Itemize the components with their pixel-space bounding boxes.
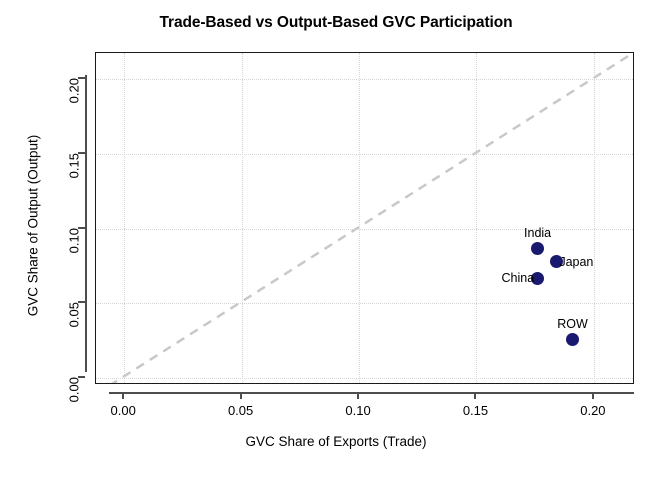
point-label-row: ROW bbox=[557, 318, 588, 331]
y-tick-label-4: 0.20 bbox=[67, 78, 82, 103]
gridline-vertical-0 bbox=[124, 53, 125, 383]
y-axis-label: GVC Share of Output (Output) bbox=[26, 60, 41, 392]
x-tick-4 bbox=[592, 392, 594, 399]
chart-figure: Trade-Based vs Output-Based GVC Particip… bbox=[0, 0, 672, 480]
x-tick-label-2: 0.10 bbox=[345, 403, 370, 418]
gridline-vertical-3 bbox=[476, 53, 477, 383]
x-tick-label-3: 0.15 bbox=[463, 403, 488, 418]
chart-title: Trade-Based vs Output-Based GVC Particip… bbox=[0, 14, 672, 32]
plot-area: IndiaJapanChinaROW bbox=[95, 52, 634, 384]
point-label-india: India bbox=[524, 227, 551, 240]
x-axis-line bbox=[109, 392, 634, 394]
point-label-japan: Japan bbox=[559, 256, 593, 269]
y-tick-label-3: 0.15 bbox=[67, 153, 82, 178]
x-tick-3 bbox=[474, 392, 476, 399]
x-tick-2 bbox=[357, 392, 359, 399]
gridline-vertical-1 bbox=[242, 53, 243, 383]
identity-reference-line bbox=[96, 53, 633, 383]
data-point-row[interactable] bbox=[566, 333, 579, 346]
gridline-horizontal-3 bbox=[96, 154, 633, 155]
gridline-horizontal-4 bbox=[96, 79, 633, 80]
y-tick-label-0: 0.00 bbox=[67, 377, 82, 402]
x-tick-label-4: 0.20 bbox=[580, 403, 605, 418]
data-point-india[interactable] bbox=[531, 242, 544, 255]
x-tick-1 bbox=[240, 392, 242, 399]
gridline-vertical-2 bbox=[359, 53, 360, 383]
x-tick-label-1: 0.05 bbox=[228, 403, 253, 418]
x-tick-label-0: 0.00 bbox=[111, 403, 136, 418]
y-tick-label-1: 0.05 bbox=[67, 302, 82, 327]
point-label-china: China bbox=[502, 272, 535, 285]
gridline-horizontal-2 bbox=[96, 229, 633, 230]
gridline-horizontal-0 bbox=[96, 378, 633, 379]
y-tick-label-2: 0.10 bbox=[67, 228, 82, 253]
gridline-horizontal-1 bbox=[96, 303, 633, 304]
x-tick-0 bbox=[122, 392, 124, 399]
x-axis-label: GVC Share of Exports (Trade) bbox=[0, 434, 672, 449]
y-axis-line bbox=[85, 75, 87, 372]
gridline-vertical-4 bbox=[594, 53, 595, 383]
